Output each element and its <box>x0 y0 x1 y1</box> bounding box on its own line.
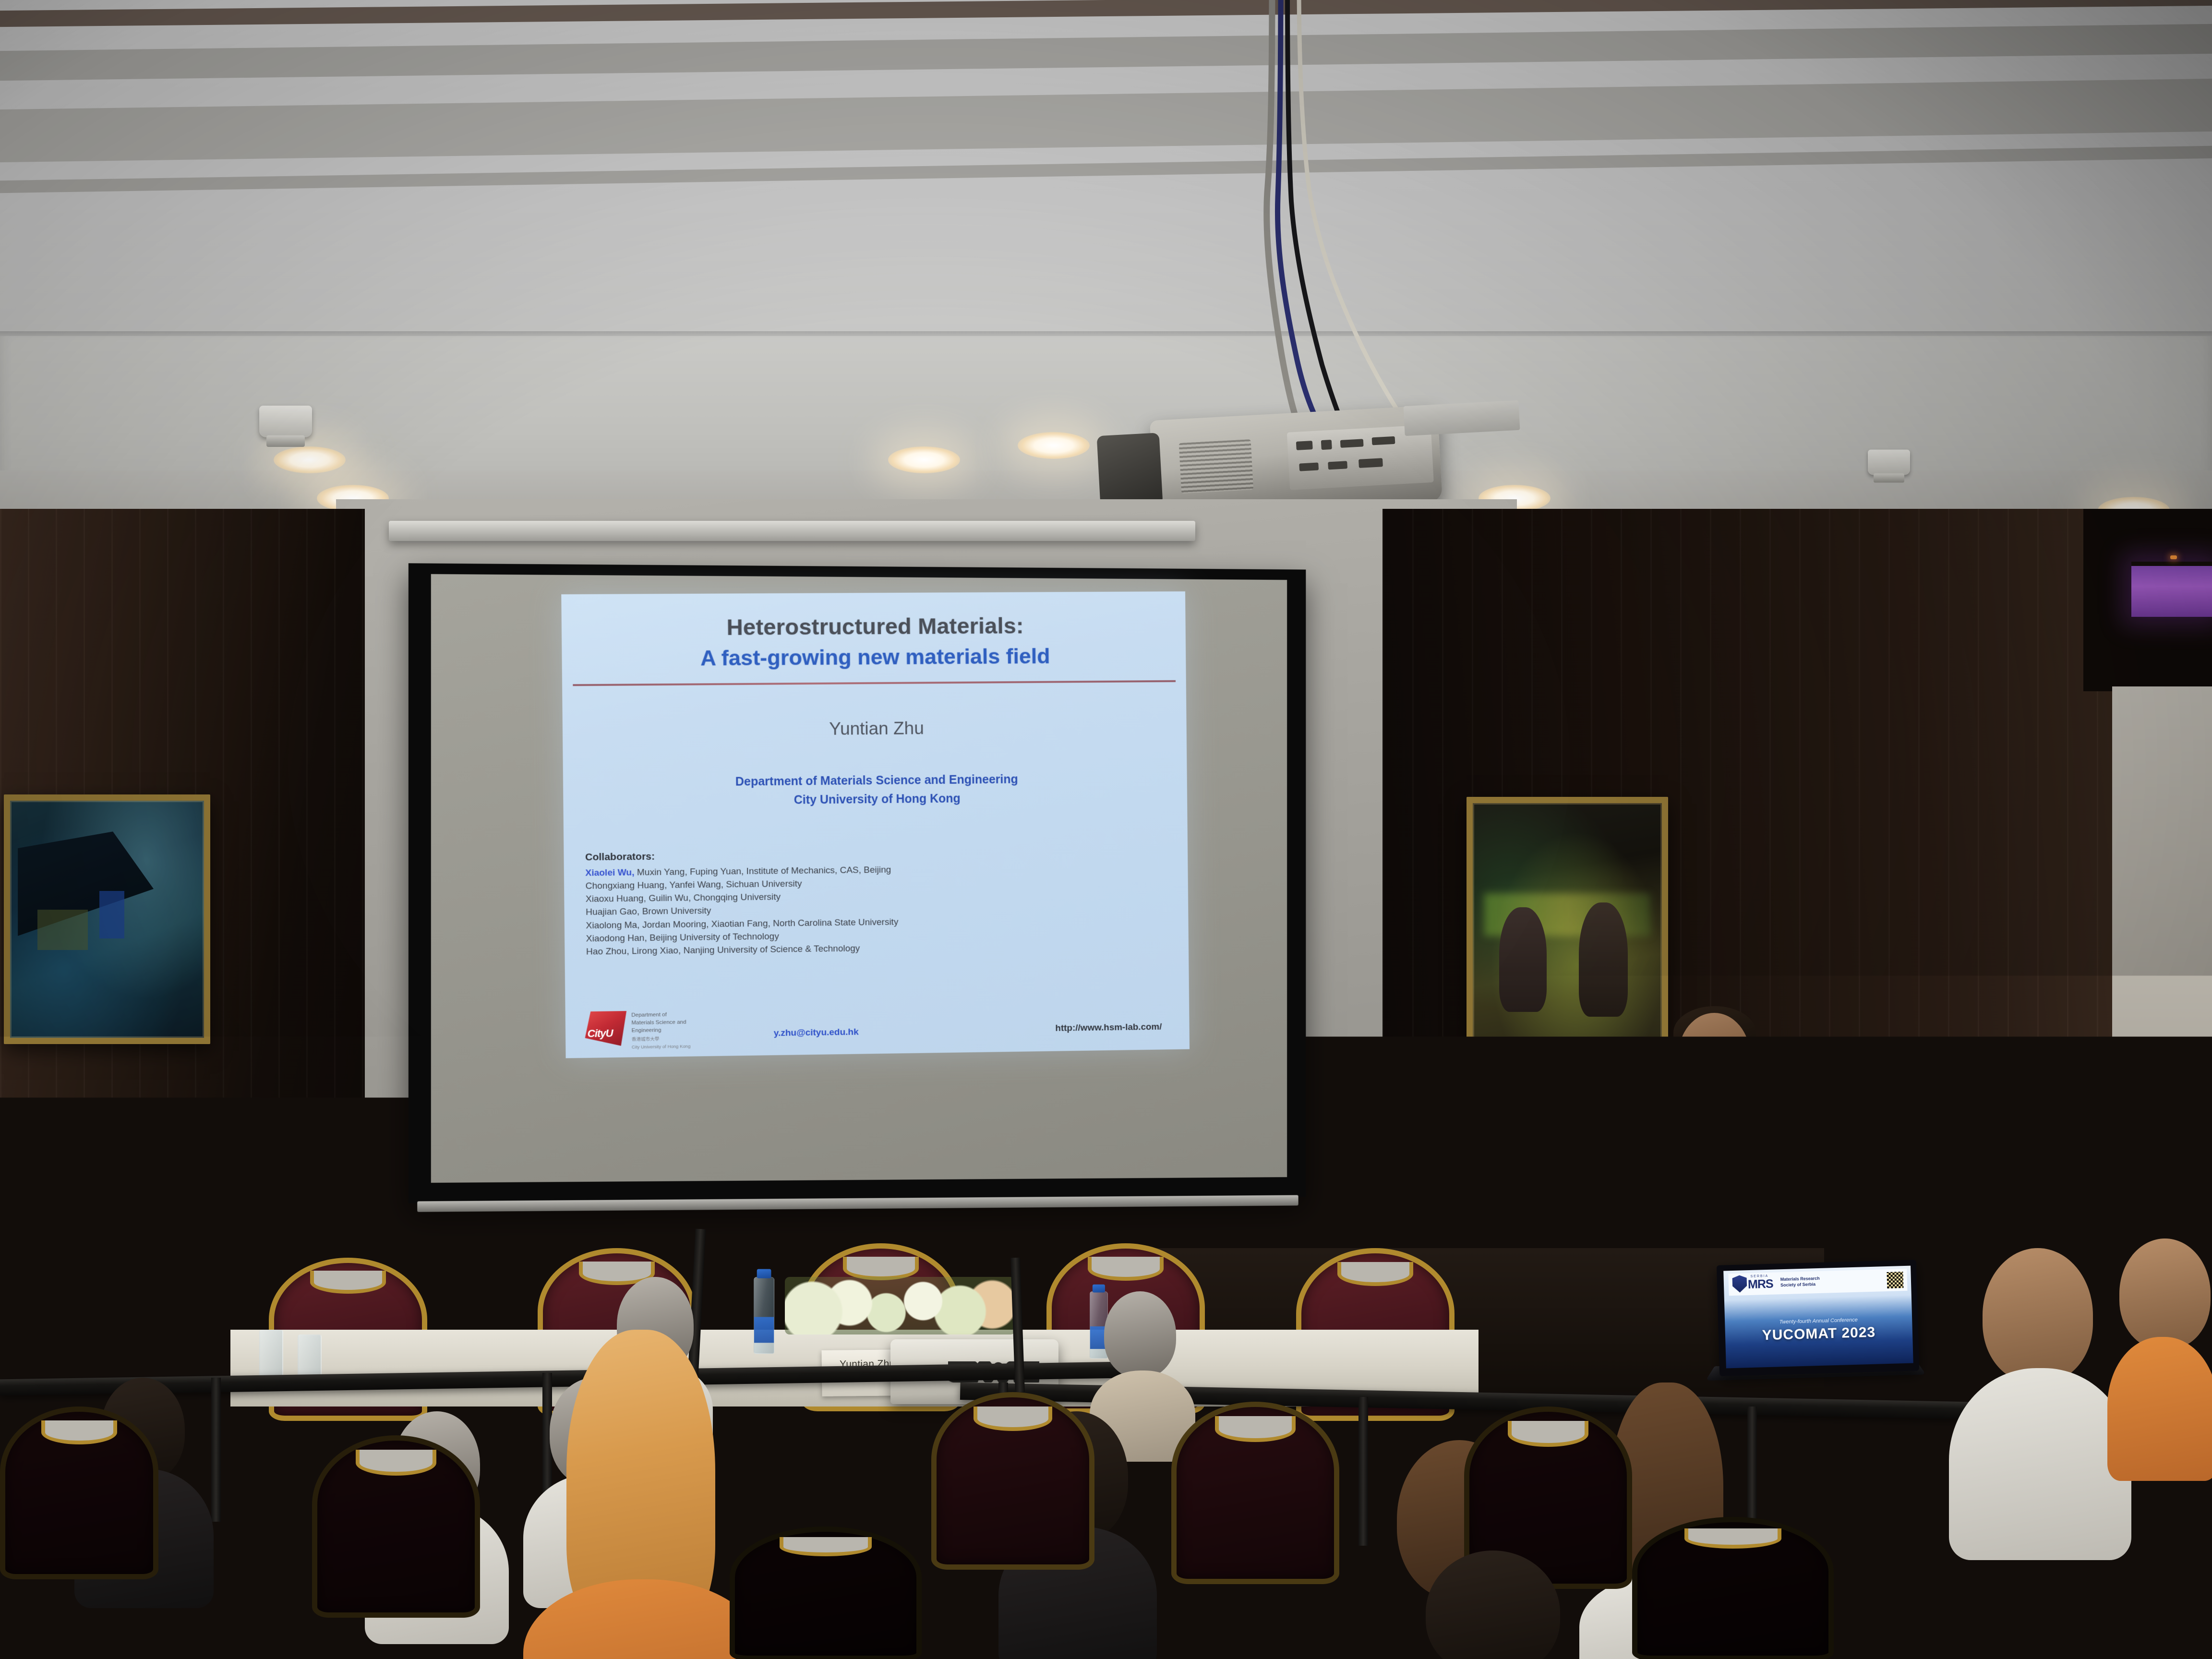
drinking-glass <box>1865 1171 1889 1219</box>
tote-bag <box>144 1551 394 1659</box>
cityu-name-en: City University of Hong Kong <box>632 1043 709 1050</box>
projector-mount <box>1404 400 1520 436</box>
collaborator-lead-name: Xiaolei Wu, <box>585 867 634 878</box>
smoke-detector-icon <box>259 406 312 437</box>
projector-vent <box>1179 439 1253 493</box>
slide-divider-rule <box>573 680 1176 686</box>
bottle-cap <box>304 1486 334 1505</box>
banquet-chair <box>931 1392 1094 1570</box>
audience-member <box>2107 1238 2212 1469</box>
slide-affiliation: Department of Materials Science and Engi… <box>563 769 1187 812</box>
ceiling-beam <box>0 24 2212 81</box>
conference-room-photo: Heterostructured Materials: A fast-growi… <box>0 0 2212 1659</box>
figurative-green-painting <box>1467 797 1668 1046</box>
drinking-glass <box>259 1330 283 1378</box>
banquet-chair <box>1171 1402 1339 1584</box>
projector-lens-cover <box>1097 433 1163 508</box>
mrs-society-line2: Society of Serbia <box>1780 1282 1820 1288</box>
downlight <box>274 446 346 473</box>
cityu-logo: CityU Department of Materials Science an… <box>585 1007 706 1048</box>
abstract-blue-painting <box>4 794 210 1044</box>
slide-contact-email: y.zhu@cityu.edu.hk <box>774 1027 859 1039</box>
projected-slide: Heterostructured Materials: A fast-growi… <box>561 591 1190 1058</box>
audience-member <box>1382 1551 1603 1659</box>
presenter-hand <box>1688 1166 1721 1200</box>
downlight <box>1018 432 1090 459</box>
laptop-lid: SERBIA MRS Materials Research Society of… <box>1717 1260 1919 1376</box>
slide-lab-url: http://www.hsm-lab.com/ <box>1055 1022 1162 1034</box>
audience-member <box>1949 1248 2131 1546</box>
cityu-logo-wordmark: CityU <box>588 1027 613 1040</box>
banquet-chair <box>730 1527 922 1659</box>
mrs-society-name: Materials Research Society of Serbia <box>1780 1276 1820 1288</box>
water-bottle <box>298 1503 341 1659</box>
drinking-glass <box>1899 1174 1923 1222</box>
downlight <box>888 446 960 473</box>
slide-subtitle: A fast-growing new materials field <box>562 643 1186 672</box>
slide-author-name: Yuntian Zhu <box>563 716 1187 741</box>
banquet-chair <box>0 1407 158 1579</box>
slide-title: Heterostructured Materials: <box>562 612 1186 641</box>
banquet-chair <box>1632 1517 1834 1659</box>
slide-footer: CityU Department of Materials Science an… <box>565 996 1189 1050</box>
smoke-detector-icon <box>1868 450 1910 475</box>
purple-light-panel <box>2131 562 2212 617</box>
ceiling-beam <box>0 79 2212 162</box>
cityu-logo-mark: CityU <box>585 1011 627 1046</box>
projection-screen-housing <box>389 521 1195 541</box>
qr-code-icon <box>1887 1272 1903 1288</box>
cityu-department-text: Department of Materials Science and Engi… <box>631 1011 709 1050</box>
eyeglasses-icon <box>1684 1041 1745 1055</box>
ceiling-beam <box>0 0 2212 27</box>
cityu-name-cn: 香港城市大學 <box>632 1035 709 1043</box>
drinking-glass <box>1930 1183 1954 1231</box>
collaborator-rest: Muxin Yang, Fuping Yuan, Institute of Me… <box>634 865 891 878</box>
indicator-light-icon <box>2170 555 2177 559</box>
slide-collaborators: Collaborators: Xiaolei Wu, Muxin Yang, F… <box>585 845 1115 959</box>
conference-title: YUCOMAT 2023 <box>1725 1323 1913 1345</box>
bottle-label <box>299 1586 340 1640</box>
laptop-screen: SERBIA MRS Materials Research Society of… <box>1723 1266 1913 1369</box>
flower-arrangement <box>785 1277 1015 1334</box>
mrs-abbrev: MRS <box>1748 1277 1773 1292</box>
cityu-dept-line2: Materials Science and Engineering <box>631 1019 709 1035</box>
mrs-shield-icon <box>1732 1275 1747 1293</box>
mrs-logo-row: SERBIA MRS Materials Research Society of… <box>1728 1269 1907 1296</box>
